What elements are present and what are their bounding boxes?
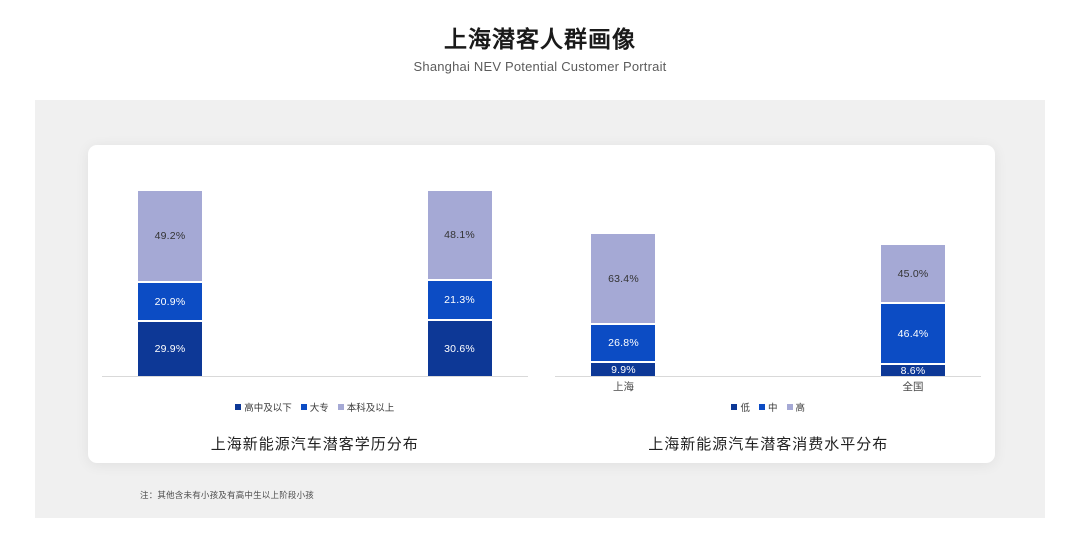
chart-title-education: 上海新能源汽车潜客学历分布 (88, 433, 542, 454)
legend-label: 本科及以上 (347, 400, 395, 414)
legend-item[interactable]: 高中及以下 (235, 400, 292, 414)
legend-label: 中 (768, 400, 778, 414)
legend-item[interactable]: 本科及以上 (338, 400, 395, 414)
stacked-bar[interactable]: 48.1% 21.3% 30.6% (427, 190, 493, 377)
bar-segment-low[interactable]: 29.9% (137, 321, 203, 377)
bar-slot: 48.1% 21.3% 30.6% (414, 190, 505, 377)
legend-education: 高中及以下 大专 本科及以上 (88, 400, 542, 414)
bar-segment-high[interactable]: 48.1% (427, 190, 493, 280)
legend-swatch-icon (338, 404, 344, 410)
legend-swatch-icon (235, 404, 241, 410)
legend-label: 高中及以下 (244, 400, 292, 414)
bar-segment-mid[interactable]: 26.8% (590, 324, 656, 362)
stacked-bar[interactable]: 49.2% 20.9% 29.9% (137, 190, 203, 377)
bar-segment-high[interactable]: 45.0% (880, 244, 946, 303)
legend-label: 大专 (310, 400, 329, 414)
legend-label: 低 (740, 400, 750, 414)
legend-swatch-icon (787, 404, 793, 410)
bar-segment-mid[interactable]: 46.4% (880, 303, 946, 364)
legend-swatch-icon (731, 404, 737, 410)
legend-swatch-icon (301, 404, 307, 410)
bar-segment-high[interactable]: 49.2% (137, 190, 203, 282)
charts-row: 49.2% 20.9% 29.9% 48.1% 21.3% 30.6% (88, 145, 995, 463)
chart-title-consumption: 上海新能源汽车潜客消费水平分布 (542, 433, 996, 454)
page-header: 上海潜客人群画像 Shanghai NEV Potential Customer… (0, 0, 1080, 95)
legend-label: 高 (796, 400, 806, 414)
bar-segment-mid[interactable]: 21.3% (427, 280, 493, 320)
legend-item[interactable]: 大专 (301, 400, 329, 414)
bars-container-education: 49.2% 20.9% 29.9% 48.1% 21.3% 30.6% (124, 190, 505, 377)
plot-area-education: 49.2% 20.9% 29.9% 48.1% 21.3% 30.6% (88, 190, 542, 377)
category-label: 上海 (578, 379, 669, 394)
legend-item[interactable]: 高 (787, 400, 806, 414)
plot-area-consumption: 63.4% 26.8% 9.9% 45.0% 46.4% 8.6% (542, 190, 996, 377)
bar-segment-high[interactable]: 63.4% (590, 233, 656, 324)
legend-item[interactable]: 低 (731, 400, 750, 414)
bars-container-consumption: 63.4% 26.8% 9.9% 45.0% 46.4% 8.6% (578, 190, 959, 377)
x-axis-line (102, 376, 528, 377)
category-labels-consumption: 上海 全国 (578, 379, 959, 394)
category-label: 全国 (867, 379, 958, 394)
bar-segment-mid[interactable]: 20.9% (137, 282, 203, 321)
bar-slot: 49.2% 20.9% 29.9% (124, 190, 215, 377)
legend-item[interactable]: 中 (759, 400, 778, 414)
chart-card: 49.2% 20.9% 29.9% 48.1% 21.3% 30.6% (88, 145, 995, 463)
bar-slot: 63.4% 26.8% 9.9% (578, 233, 669, 377)
stacked-bar[interactable]: 45.0% 46.4% 8.6% (880, 244, 946, 377)
page-title: 上海潜客人群画像 (0, 24, 1080, 54)
stacked-bar[interactable]: 63.4% 26.8% 9.9% (590, 233, 656, 377)
chart-consumption-distribution: 63.4% 26.8% 9.9% 45.0% 46.4% 8.6% (542, 145, 996, 463)
slide-panel: 49.2% 20.9% 29.9% 48.1% 21.3% 30.6% (35, 100, 1045, 518)
bar-slot: 45.0% 46.4% 8.6% (867, 244, 958, 377)
page-subtitle: Shanghai NEV Potential Customer Portrait (0, 57, 1080, 77)
footnote: 注：其他含未有小孩及有高中生以上阶段小孩 (140, 489, 314, 501)
legend-swatch-icon (759, 404, 765, 410)
x-axis-line (555, 376, 981, 377)
bar-segment-low[interactable]: 30.6% (427, 320, 493, 377)
chart-education-distribution: 49.2% 20.9% 29.9% 48.1% 21.3% 30.6% (88, 145, 542, 463)
bar-segment-low[interactable]: 9.9% (590, 362, 656, 377)
legend-consumption: 低 中 高 (542, 400, 996, 414)
